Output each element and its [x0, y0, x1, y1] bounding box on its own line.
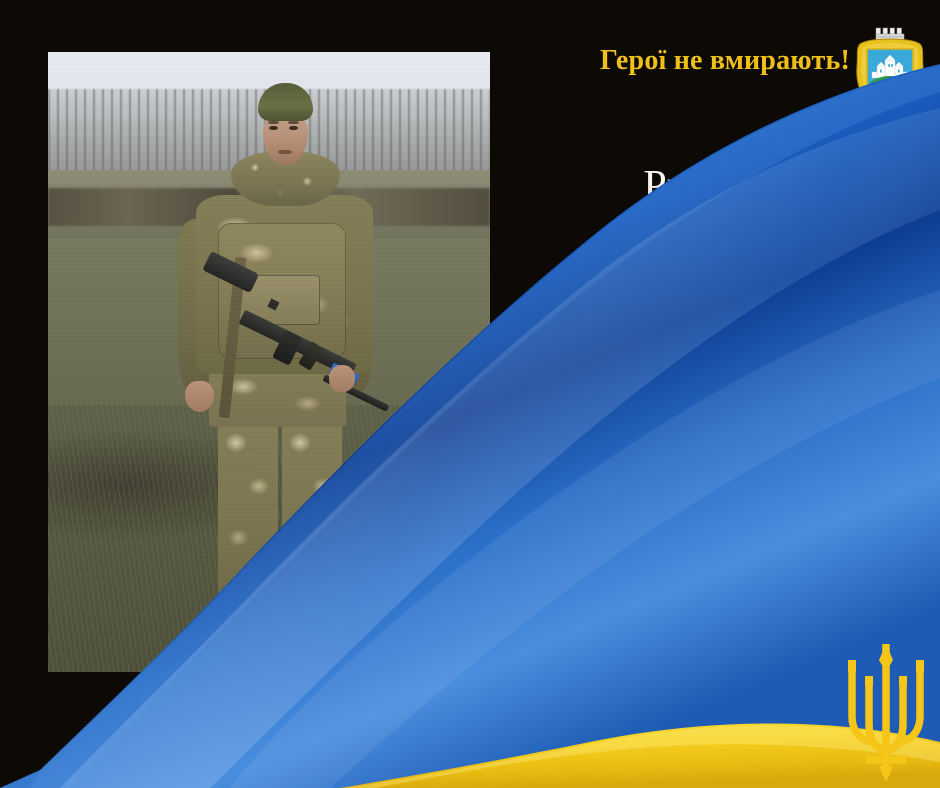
memorial-name-block: Римарчук Степан Анатолійович (1984-2024) — [520, 160, 940, 375]
soldier-figure — [48, 52, 490, 672]
tryzub-icon — [838, 638, 934, 784]
soldier-left-brow — [268, 121, 279, 124]
soldier-right-boot — [280, 598, 344, 643]
soldier-photo — [48, 52, 490, 672]
mural-crown-icon — [876, 28, 904, 40]
soldier-beanie-hat — [258, 83, 313, 121]
memorial-years: (1984-2024) — [520, 321, 940, 375]
memorial-patronymic: Анатолійович — [520, 268, 940, 322]
memorial-given-name: Степан — [520, 214, 940, 268]
memorial-surname: Римарчук — [520, 160, 940, 214]
soldier-left-leg — [218, 415, 278, 613]
soldier-left-boot — [209, 598, 273, 643]
memorial-poster: Герої не вмирають! — [0, 0, 940, 788]
hero-slogan: Герої не вмирають! — [520, 46, 850, 77]
soldier-mouth — [278, 150, 292, 154]
coat-of-arms-icon — [852, 22, 928, 128]
soldier-right-leg — [282, 415, 342, 613]
soldier-right-hand — [329, 365, 356, 392]
soldier-left-hand — [185, 381, 214, 412]
soldier-right-brow — [288, 121, 299, 124]
